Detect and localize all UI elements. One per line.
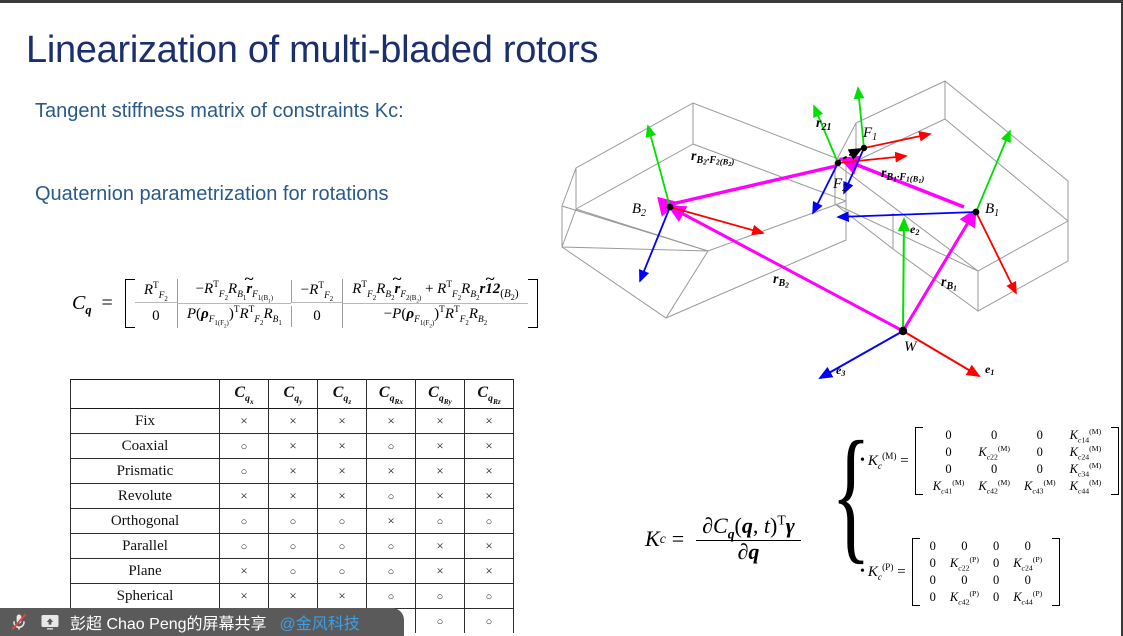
cross-icon: ×: [240, 413, 247, 428]
cq-cell-r2c3: 0: [291, 306, 342, 327]
cross-icon: ×: [485, 438, 492, 453]
circle-icon: ○: [241, 441, 248, 453]
matrix-cell: Kc24(P): [1006, 555, 1049, 572]
frame-b2-triad: [640, 126, 763, 281]
point-f1: [861, 145, 867, 151]
cq-cell-r1c1: RTF2: [135, 280, 177, 303]
cq-cell-r1c2: −RTF2RB1rF1(B1): [177, 279, 291, 304]
point-w: [899, 327, 907, 335]
circle-icon: ○: [388, 441, 395, 453]
matrix-cell: 0: [986, 555, 1006, 572]
matrix-cell: Kc43(M): [1017, 478, 1063, 495]
circle-icon: ○: [437, 591, 444, 603]
constraint-mark-cell: ×: [269, 584, 318, 609]
header-cell-blank: [71, 380, 220, 409]
constraint-mark-cell: ×: [416, 459, 465, 484]
constraint-mark-cell: ×: [269, 459, 318, 484]
cross-icon: ×: [240, 563, 247, 578]
kc-denominator: ∂q: [738, 537, 760, 564]
constraint-mark-cell: ×: [269, 434, 318, 459]
matrix-cell: Kc24(M): [1063, 444, 1109, 461]
kc-lhs: Kc = ∂Cq(q, t)Tγ ∂q: [645, 513, 801, 565]
matrix-row: 0Kc22(M)0Kc24(M): [926, 444, 1108, 461]
cross-icon: ×: [436, 413, 443, 428]
constraint-mark-cell: ○: [465, 609, 514, 634]
matrix-m: 000Kc14(M)0Kc22(M)0Kc24(M)000Kc34(M)Kc41…: [915, 427, 1119, 495]
cross-icon: ×: [436, 538, 443, 553]
label-rB2: rB2: [773, 272, 789, 290]
matrix-cell: Kc14(M): [1063, 427, 1109, 444]
cross-icon: ×: [338, 463, 345, 478]
matrix-row: Kc41(M)Kc42(M)Kc43(M)Kc44(M): [926, 478, 1108, 495]
table-row: Fix××××××: [71, 409, 514, 434]
constraint-mark-cell: ×: [416, 484, 465, 509]
constraint-name-cell: Prismatic: [71, 459, 220, 484]
cross-icon: ×: [436, 438, 443, 453]
constraint-mark-cell: ×: [318, 484, 367, 509]
constraint-mark-cell: ○: [367, 484, 416, 509]
matrix-cell: 0: [971, 427, 1017, 444]
constraint-mark-cell: ○: [220, 534, 269, 559]
constraint-mark-cell: ○: [220, 459, 269, 484]
w-e3-axis: [820, 331, 903, 378]
cq-matrix-grid: RTF2 −RTF2RB1rF1(B1) −RTF2 RTF2RB2rF2(B2…: [135, 279, 528, 328]
constraint-name-cell: Coaxial: [71, 434, 220, 459]
header-cell-cqy: Cqy: [269, 380, 318, 409]
constraint-table: Cqx Cqy Cqz CqRx CqRy CqRz Fix×××××: [70, 379, 514, 633]
point-b2: [667, 204, 674, 211]
header-cell-cqz: Cqz: [318, 380, 367, 409]
matrix-cell: 0: [986, 572, 1006, 589]
matrix-bracket-right: [528, 279, 538, 328]
constraint-mark-cell: ○: [416, 609, 465, 634]
label-B1: B1: [985, 201, 999, 219]
matrix-cell: 0: [1006, 572, 1049, 589]
b1-x-axis: [976, 212, 1016, 293]
label-r21: r21: [816, 116, 831, 133]
matrix-row: 0000: [923, 572, 1050, 589]
cross-icon: ×: [485, 538, 492, 553]
cq-equation: Cq = RTF2 −RTF2RB1rF1(B1) −RTF2 RTF2RB2r…: [72, 279, 538, 328]
constraint-mark-cell: ○: [220, 509, 269, 534]
share-company-handle: @金风科技: [280, 610, 360, 634]
circle-icon: ○: [437, 616, 444, 628]
constraint-mark-cell: ×: [367, 509, 416, 534]
constraint-mark-cell: ×: [416, 559, 465, 584]
constraint-name-cell: Orthogonal: [71, 509, 220, 534]
matrix-cell: 0: [923, 589, 943, 606]
header-cell-cqrz: CqRz: [465, 380, 514, 409]
matrix-p-bracket-left: [912, 538, 920, 606]
constraint-mark-cell: ×: [318, 434, 367, 459]
constraint-mark-cell: ○: [416, 509, 465, 534]
constraint-mark-cell: ○: [269, 559, 318, 584]
constraint-name-cell: Parallel: [71, 534, 220, 559]
constraint-mark-cell: ×: [220, 559, 269, 584]
matrix-cell: Kc22(P): [943, 555, 986, 572]
cross-icon: ×: [436, 488, 443, 503]
f2-x-axis: [838, 156, 906, 163]
cq-lhs: Cq =: [72, 292, 118, 315]
constraint-mark-cell: ×: [416, 409, 465, 434]
matrix-cell: 0: [943, 538, 986, 555]
position-vectors: [670, 207, 975, 331]
circle-icon: ○: [486, 591, 493, 603]
screen-share-icon[interactable]: [39, 612, 61, 632]
cross-icon: ×: [289, 588, 296, 603]
constraint-mark-cell: ○: [318, 534, 367, 559]
bullet-quaternion: Quaternion parametrization for rotations: [35, 183, 389, 206]
matrix-row: 0Kc22(P)0Kc24(P): [923, 555, 1050, 572]
matrix-p-bracket-right: [1052, 538, 1060, 606]
matrix-cell: 0: [971, 461, 1017, 478]
cross-icon: ×: [289, 438, 296, 453]
cross-icon: ×: [436, 563, 443, 578]
w-e2-axis: [903, 219, 904, 331]
cross-icon: ×: [485, 463, 492, 478]
box-b1: [835, 81, 1068, 311]
header-cell-cqrx: CqRx: [367, 380, 416, 409]
kc-fraction: ∂Cq(q, t)Tγ ∂q: [696, 513, 801, 565]
circle-icon: ○: [241, 516, 248, 528]
cross-icon: ×: [338, 438, 345, 453]
kc-p-label: Kc(P) =: [868, 564, 906, 581]
circle-icon: ○: [290, 541, 297, 553]
circle-icon: ○: [290, 566, 297, 578]
matrix-cell: Kc44(P): [1006, 589, 1049, 606]
matrix-cell: 0: [1006, 538, 1049, 555]
matrix-cell: 0: [986, 589, 1006, 606]
presentation-slide: Linearization of multi-bladed rotors Tan…: [0, 0, 1123, 636]
table-header-row: Cqx Cqy Cqz CqRx CqRy CqRz: [71, 380, 514, 409]
vector-rB1F1: [842, 159, 964, 207]
matrix-cell: 0: [1017, 427, 1063, 444]
kc-matrix-m: • Kc(M) = 000Kc14(M)0Kc22(M)0Kc24(M)000K…: [860, 427, 1119, 495]
screen-share-bar: 彭超 Chao Peng的屏幕共享 @金风科技: [0, 608, 404, 636]
circle-icon: ○: [486, 516, 493, 528]
cross-icon: ×: [338, 488, 345, 503]
cross-icon: ×: [338, 588, 345, 603]
constraint-mark-cell: ×: [220, 484, 269, 509]
constraint-name-cell: Plane: [71, 559, 220, 584]
diagram-svg: B2 B1 F2 F1 r21 W e1 e2 e3 rB2 rB1 rB2·F…: [548, 61, 1108, 401]
microphone-muted-icon[interactable]: [8, 612, 30, 632]
rotor-kinematics-diagram: B2 B1 F2 F1 r21 W e1 e2 e3 rB2 rB1 rB2·F…: [548, 61, 1108, 401]
vector-rB2F2: [676, 166, 836, 203]
table-row: Coaxial○××○××: [71, 434, 514, 459]
share-owner-label: 彭超 Chao Peng的屏幕共享: [70, 610, 267, 634]
cross-icon: ×: [289, 488, 296, 503]
constraint-mark-cell: ×: [318, 459, 367, 484]
bullet-dot-m: •: [860, 453, 865, 469]
bullet-tangent-stiffness: Tangent stiffness matrix of constraints …: [35, 100, 404, 123]
header-cell-cqry: CqRy: [416, 380, 465, 409]
circle-icon: ○: [388, 566, 395, 578]
circle-icon: ○: [339, 566, 346, 578]
header-cell-cqx: Cqx: [220, 380, 269, 409]
circle-icon: ○: [290, 516, 297, 528]
matrix-cell: Kc41(M): [926, 478, 972, 495]
circle-icon: ○: [241, 541, 248, 553]
table-row: Revolute×××○××: [71, 484, 514, 509]
cross-icon: ×: [485, 563, 492, 578]
table-header: Cqx Cqy Cqz CqRx CqRy CqRz: [71, 380, 514, 409]
constraint-name-cell: Revolute: [71, 484, 220, 509]
constraint-mark-cell: ○: [367, 584, 416, 609]
constraint-mark-cell: ○: [269, 509, 318, 534]
point-b1: [973, 209, 980, 216]
matrix-cell: Kc34(M): [1063, 461, 1109, 478]
b1-z-axis: [838, 212, 976, 217]
circle-icon: ○: [486, 616, 493, 628]
cross-icon: ×: [240, 588, 247, 603]
cross-icon: ×: [338, 413, 345, 428]
constraint-mark-cell: ×: [416, 534, 465, 559]
label-rB1F1: rB1·F1(B1): [881, 166, 925, 185]
constraint-name-cell: Fix: [71, 409, 220, 434]
matrix-cell: 0: [926, 427, 972, 444]
table-body: Fix××××××Coaxial○××○××Prismatic○×××××Rev…: [71, 409, 514, 634]
cross-icon: ×: [485, 413, 492, 428]
constraint-mark-cell: ×: [367, 409, 416, 434]
constraint-mark-cell: ×: [465, 434, 514, 459]
label-F1: F1: [862, 125, 877, 143]
matrix-cell: Kc44(M): [1063, 478, 1109, 495]
label-rB1: rB1: [941, 275, 957, 293]
constraint-mark-cell: ○: [367, 434, 416, 459]
matrix-p: 00000Kc22(P)0Kc24(P)00000Kc42(P)0Kc44(P): [912, 538, 1061, 606]
constraint-mark-cell: ○: [416, 584, 465, 609]
constraint-name-cell: Spherical: [71, 584, 220, 609]
constraint-mark-cell: ×: [269, 409, 318, 434]
box-b2: [562, 103, 846, 318]
matrix-m-bracket-right: [1111, 427, 1119, 495]
circle-icon: ○: [437, 516, 444, 528]
cross-icon: ×: [240, 488, 247, 503]
cq-cell-r2c1: 0: [135, 306, 177, 327]
kc-matrix-p: • Kc(P) = 00000Kc22(P)0Kc24(P)00000Kc42(…: [860, 538, 1060, 606]
table-row: Parallel○○○○××: [71, 534, 514, 559]
cross-icon: ×: [387, 463, 394, 478]
constraint-mark-cell: ○: [318, 559, 367, 584]
constraint-mark-cell: ×: [465, 409, 514, 434]
constraint-mark-cell: ×: [367, 459, 416, 484]
matrix-m-bracket-left: [915, 427, 923, 495]
b2-y-axis: [648, 126, 670, 207]
matrix-row: 0000: [923, 538, 1050, 555]
constraint-mark-cell: ×: [220, 409, 269, 434]
matrix-cell: 0: [923, 538, 943, 555]
matrix-row: 0Kc42(P)0Kc44(P): [923, 589, 1050, 606]
matrix-row: 000Kc14(M): [926, 427, 1108, 444]
circle-icon: ○: [241, 466, 248, 478]
kc-equation: Kc = ∂Cq(q, t)Tγ ∂q {: [645, 423, 887, 565]
circle-icon: ○: [339, 541, 346, 553]
constraint-mark-cell: ○: [269, 534, 318, 559]
constraint-mark-cell: ○: [367, 534, 416, 559]
circle-icon: ○: [388, 591, 395, 603]
cross-icon: ×: [289, 413, 296, 428]
constraint-mark-cell: ○: [220, 434, 269, 459]
constraint-mark-cell: ×: [416, 434, 465, 459]
label-B2: B2: [632, 201, 646, 219]
matrix-cell: 0: [1017, 461, 1063, 478]
b1-y-axis: [976, 131, 1010, 212]
constraint-mark-cell: ×: [220, 584, 269, 609]
cross-icon: ×: [436, 463, 443, 478]
matrix-cell: 0: [926, 444, 972, 461]
constraint-mark-cell: ×: [318, 584, 367, 609]
label-e1: e1: [985, 362, 994, 377]
kc-m-label: Kc(M) =: [868, 453, 909, 470]
slide-title: Linearization of multi-bladed rotors: [26, 29, 598, 72]
matrix-row: 000Kc34(M): [926, 461, 1108, 478]
cross-icon: ×: [289, 463, 296, 478]
circle-icon: ○: [388, 491, 395, 503]
matrix-cell: Kc42(M): [971, 478, 1017, 495]
matrix-cell: 0: [926, 461, 972, 478]
bullet-dot-p: •: [860, 564, 865, 580]
constraint-mark-cell: ×: [318, 409, 367, 434]
matrix-cell: 0: [923, 555, 943, 572]
label-W: W: [904, 339, 918, 355]
cq-cell-r2c2: P(ρF1(F2))TRTF2RB1: [177, 304, 291, 328]
table-row: Plane×○○○××: [71, 559, 514, 584]
vector-rB2: [670, 207, 903, 331]
cross-icon: ×: [387, 513, 394, 528]
matrix-cell: 0: [923, 572, 943, 589]
constraint-mark-cell: ○: [465, 509, 514, 534]
matrix-bracket-left: [125, 279, 135, 328]
table-row: Prismatic○×××××: [71, 459, 514, 484]
cq-cell-r1c3: −RTF2: [291, 280, 342, 303]
label-F2: F2: [832, 176, 847, 194]
cq-cell-r1c4: RTF2RB2rF2(B2) + RTF2RB2r12(B2): [342, 279, 527, 304]
constraint-mark-cell: ×: [465, 559, 514, 584]
table-row: Spherical×××○○○: [71, 584, 514, 609]
constraint-mark-cell: ×: [465, 534, 514, 559]
cross-icon: ×: [485, 488, 492, 503]
constraint-mark-cell: ○: [367, 559, 416, 584]
cq-cell-r2c4: −P(ρF1(F2))TRTF2RB2: [342, 304, 527, 328]
matrix-cell: Kc42(P): [943, 589, 986, 606]
label-e2: e2: [910, 222, 919, 237]
b2-x-axis: [670, 207, 763, 233]
constraint-mark-cell: ×: [269, 484, 318, 509]
matrix-cell: 0: [1017, 444, 1063, 461]
circle-icon: ○: [339, 516, 346, 528]
constraint-mark-cell: ○: [318, 509, 367, 534]
matrix-p-table: 00000Kc22(P)0Kc24(P)00000Kc42(P)0Kc44(P): [923, 538, 1050, 606]
matrix-cell: Kc22(M): [971, 444, 1017, 461]
constraint-mark-cell: ×: [465, 484, 514, 509]
table-row: Orthogonal○○○×○○: [71, 509, 514, 534]
circle-icon: ○: [388, 541, 395, 553]
matrix-cell: 0: [943, 572, 986, 589]
cross-icon: ×: [387, 413, 394, 428]
matrix-m-table: 000Kc14(M)0Kc22(M)0Kc24(M)000Kc34(M)Kc41…: [926, 427, 1108, 495]
constraint-mark-cell: ×: [465, 459, 514, 484]
constraint-mark-cell: ○: [465, 584, 514, 609]
matrix-cell: 0: [986, 538, 1006, 555]
